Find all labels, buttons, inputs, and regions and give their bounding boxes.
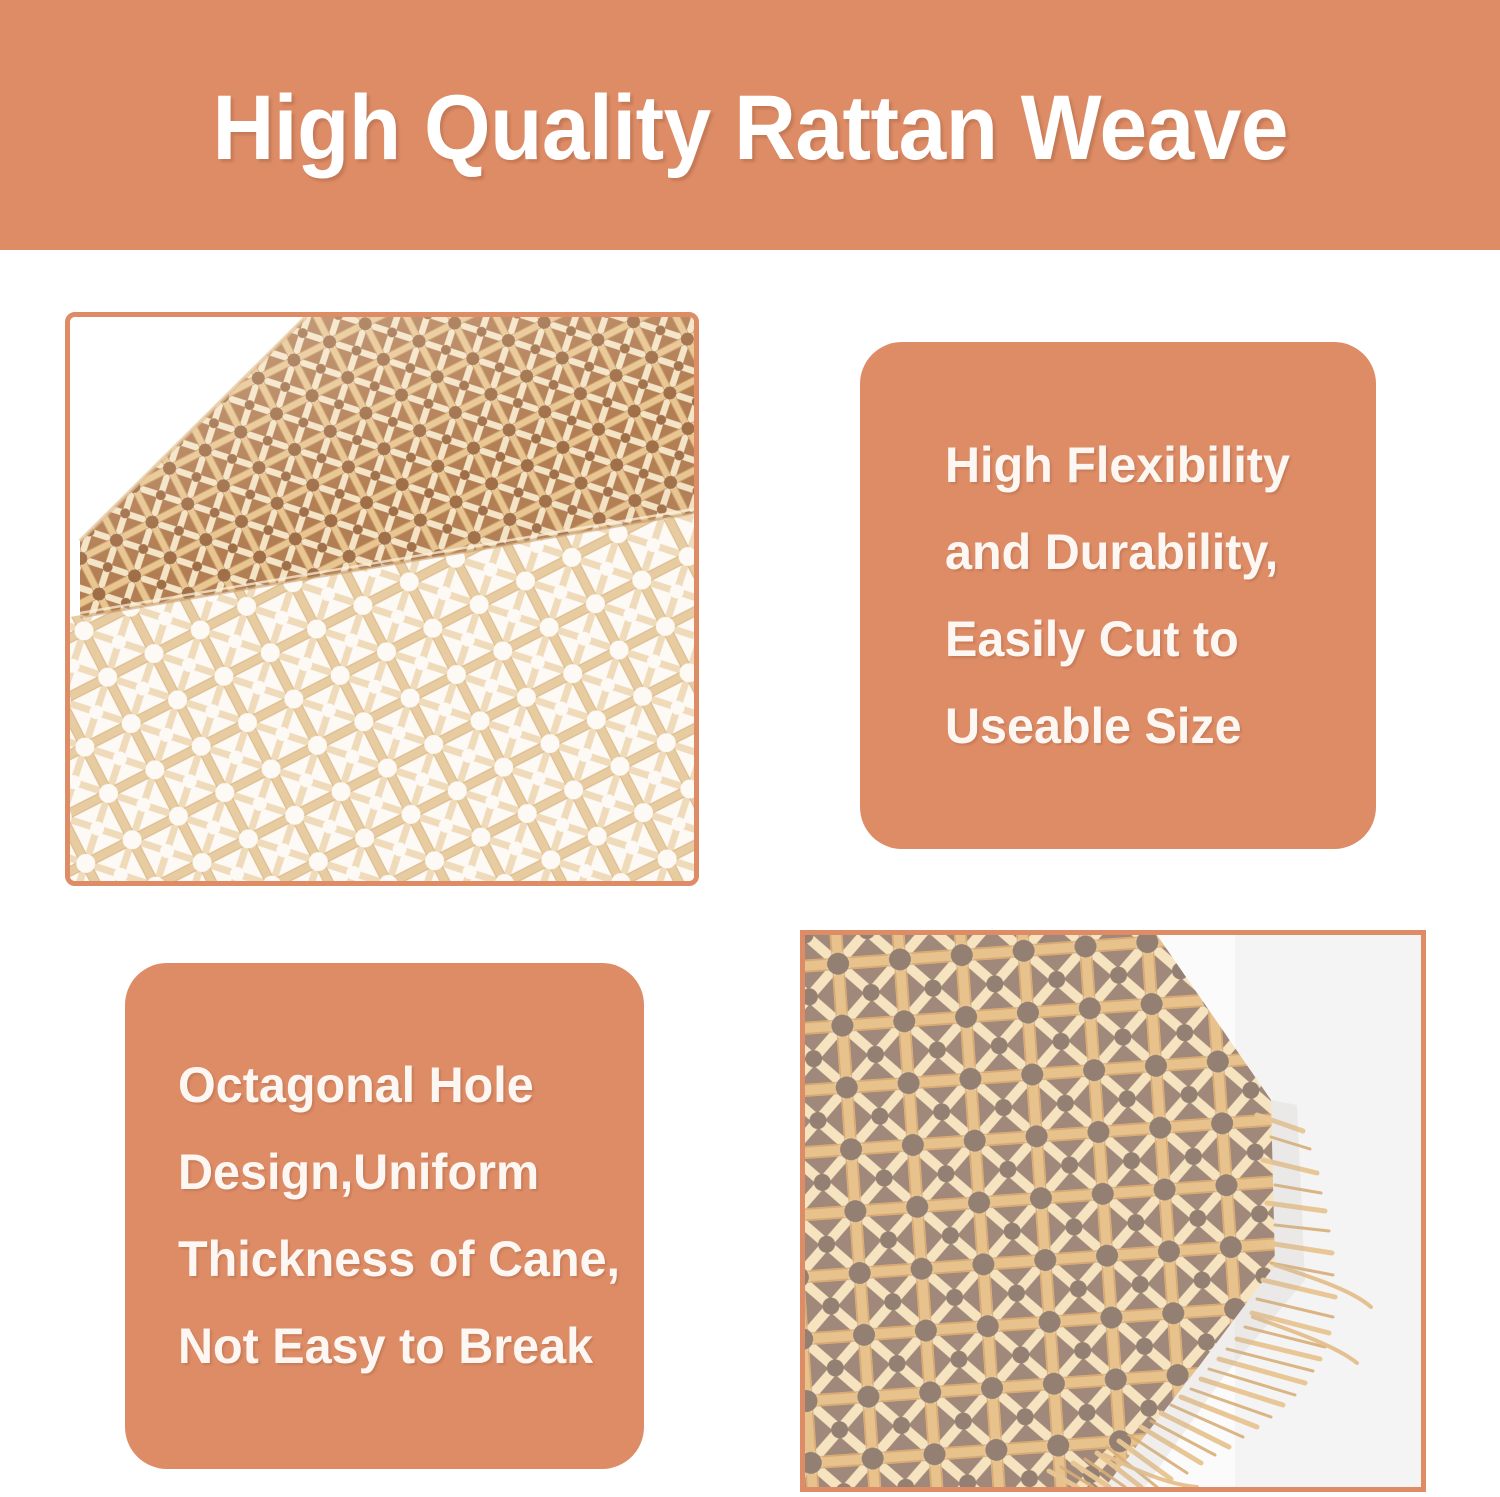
rattan-weave-roll-illustration xyxy=(70,317,694,881)
feature-line: Design,Uniform xyxy=(178,1129,630,1216)
feature-line: Not Easy to Break xyxy=(178,1303,630,1390)
feature-card-flexibility: High Flexibility and Durability, Easily … xyxy=(860,342,1376,849)
feature-card-octagonal-hole: Octagonal Hole Design,Uniform Thickness … xyxy=(125,963,644,1469)
feature-line: Octagonal Hole xyxy=(178,1042,630,1129)
feature-line: High Flexibility xyxy=(945,422,1363,509)
header-banner: High Quality Rattan Weave xyxy=(0,0,1500,250)
feature-line: and Durability, xyxy=(945,509,1363,596)
feature-line: Thickness of Cane, xyxy=(178,1216,630,1303)
feature-line: Easily Cut to xyxy=(945,596,1363,683)
rattan-weave-roll-photo xyxy=(65,312,699,886)
rattan-weave-fringe-photo xyxy=(800,930,1426,1492)
page-title: High Quality Rattan Weave xyxy=(212,82,1288,174)
rattan-weave-fringe-illustration xyxy=(805,935,1421,1487)
feature-line: Useable Size xyxy=(945,683,1363,770)
